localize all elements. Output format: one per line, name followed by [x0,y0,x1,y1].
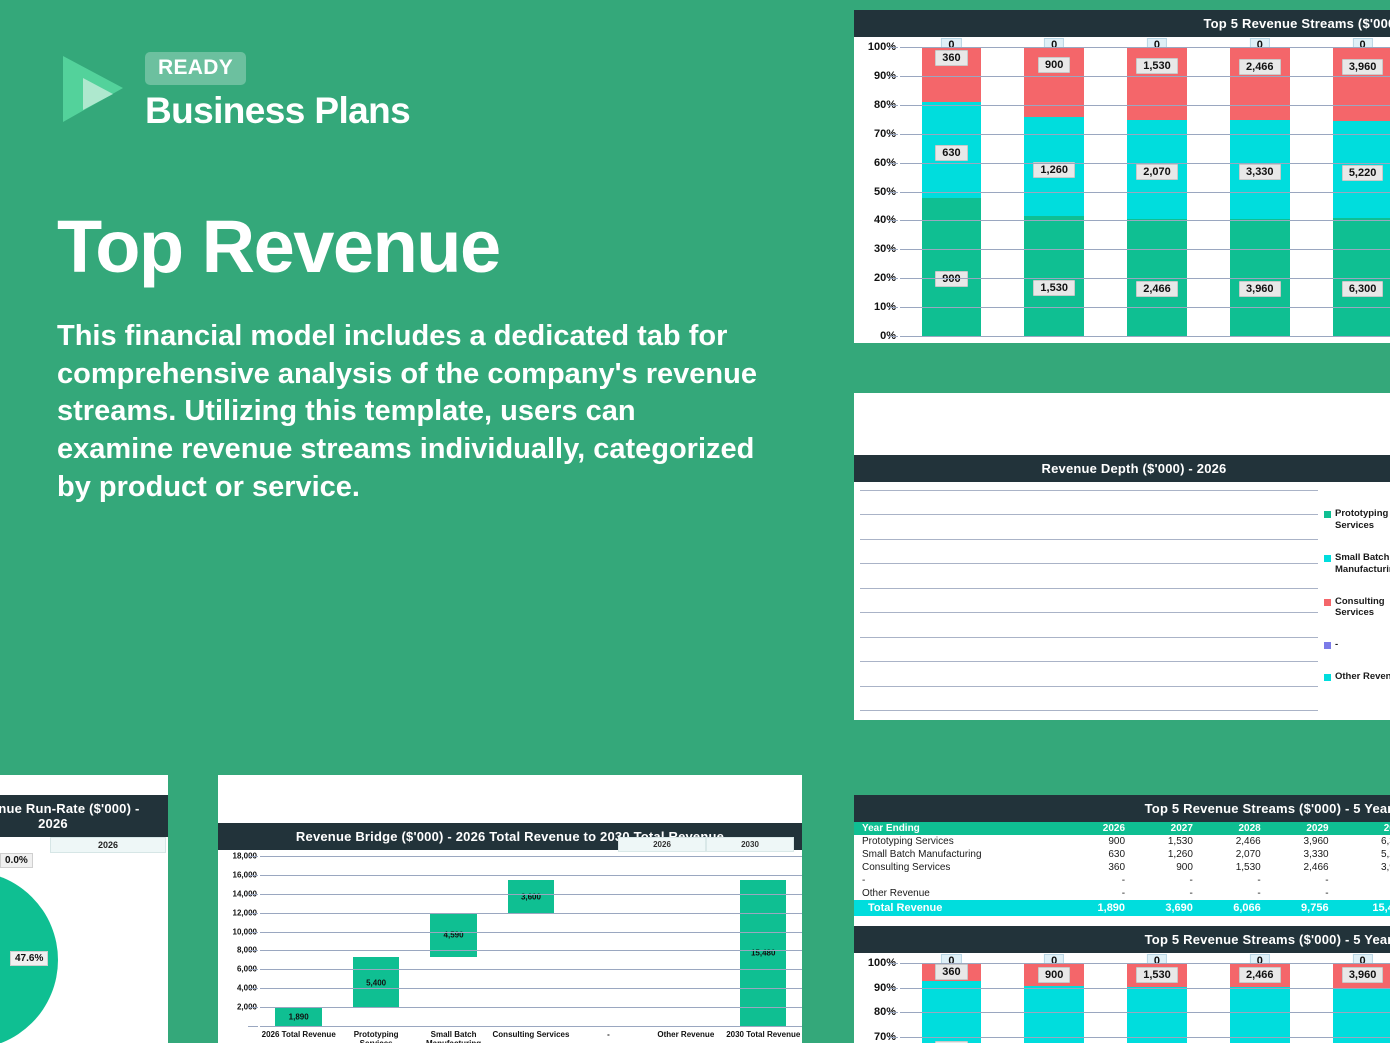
top5-revenue-table: Year Ending20262027202820292030 Prototyp… [854,822,1390,916]
gridline [900,134,1390,135]
table-cell: 5,220 [1337,848,1390,861]
plot-area-revenue-depth: 90063036000 [860,490,1318,720]
table-header-row: Year Ending20262027202820292030 [854,822,1390,835]
bridge-slot-1: 5,400 [337,856,414,1026]
table-cell: 3,960 [1269,835,1337,848]
chart-title-run-rate: Revenue Run-Rate ($'000) - 2026 [0,795,168,837]
gridline [860,539,1318,540]
segment-consulting-services: 1,530 [1127,47,1187,120]
axis-tick [888,192,898,193]
gridline [860,588,1318,589]
segment-value: 2,466 [1136,281,1178,297]
y-axis-top5-bottom: 100%90%80%70% [854,963,900,1043]
segment-small-batch-manufacturing: 5,220 [1333,121,1390,218]
legend-item: Prototyping Services [1324,508,1390,532]
axis-tick [248,856,258,857]
gridline [900,163,1390,164]
table-cell: 3,330 [1269,848,1337,861]
table-header-cell: Year Ending [854,822,1065,835]
gridline [260,1007,802,1008]
table-cell: - [1133,887,1201,900]
table-total-row: Total Revenue1,8903,6906,0669,75615,480 [854,900,1390,916]
gridline [900,192,1390,193]
axis-tick [248,969,258,970]
bridge-bar-value: 5,400 [366,978,386,987]
table-cell: - [1065,887,1133,900]
bridge-slot-2: 4,590 [415,856,492,1026]
bridge-x-label: Other Revenue [647,1026,724,1043]
axis-tick [888,220,898,221]
table-row: ------ [854,874,1390,887]
bridge-x-label: 2026 Total Revenue [260,1026,337,1043]
table-header-cell: 2030 [1337,822,1390,835]
gridline [860,563,1318,564]
gridline [860,612,1318,613]
segment-consulting-services: 900 [1024,47,1084,117]
page-title: Top Revenue [57,210,817,284]
brand-name: Business Plans [145,90,410,132]
chart-title-top5-bottom: Top 5 Revenue Streams ($'000) - 5 Years [854,926,1390,953]
table-cell: 900 [1065,835,1133,848]
segment-value: 630 [935,145,967,161]
axis-tick [888,163,898,164]
segment-consulting-services: 2,466 [1230,963,1290,987]
axis-tick [248,875,258,876]
card-top5-table-and-chart: Top 5 Revenue Streams ($'000) - 5 Years … [854,795,1390,1043]
bridge-slot-5 [647,856,724,1026]
chart-title-top5: Top 5 Revenue Streams ($'000) [854,10,1390,37]
segment-value: 1,530 [1136,58,1178,74]
bridge-slot-0: 1,890 [260,856,337,1026]
table-cell: 3,960 [1337,861,1390,874]
chart-card-revenue-depth: Revenue Depth ($'000) - 2026 90063036000… [854,393,1390,720]
table-cell: 1,530 [1133,835,1201,848]
axis-tick [888,988,898,989]
plot-area-revenue-bridge: 1,8905,4004,5903,60015,480 [260,856,802,1026]
axis-tick [888,1012,898,1013]
y-axis-revenue-bridge: 18,00016,00014,00012,00010,0008,0006,000… [218,856,260,1026]
gridline [900,307,1390,308]
axis-tick [248,950,258,951]
segment-consulting-services: 360 [922,963,982,981]
bridge-slot-6: 15,480 [725,856,802,1026]
table-header-cell: 2026 [1065,822,1133,835]
plot-area-top5-bottom: 0360630090001,53002,46603,960 [900,963,1390,1043]
table-cell: 2,466 [1201,835,1269,848]
table-row-label: Consulting Services [854,861,1065,874]
table-total-cell: 15,480 [1337,900,1390,916]
table-cell: - [1269,887,1337,900]
segment-value: 3,960 [1239,281,1281,297]
table-cell: - [1201,874,1269,887]
table-cell: - [1133,874,1201,887]
table-row: Other Revenue----- [854,887,1390,900]
segment-value: 2,466 [1239,967,1281,983]
bridge-x-label: Small Batch Manufacturing [415,1026,492,1043]
segment-value: 3,330 [1239,164,1281,180]
bridge-slot-4 [570,856,647,1026]
gridline [860,637,1318,638]
gridline [900,220,1390,221]
table-total-cell: 1,890 [1065,900,1133,916]
table-cell: 360 [1065,861,1133,874]
legend-swatch [1324,511,1331,518]
table-cell: - [1269,874,1337,887]
segment-small-batch-manufacturing [1230,987,1290,1043]
segment-consulting-services: 3,960 [1333,47,1390,121]
stacked-bar-2029: 02,466 [1208,963,1311,1043]
bridge-bar: 3,600 [508,880,554,914]
table-cell: - [1337,887,1390,900]
stacked-bar-2027: 0900 [1003,963,1106,1043]
table-cell: - [1337,874,1390,887]
legend-label: Consulting Services [1335,596,1390,620]
legend-item: Other Revenue [1324,671,1390,683]
chart-title-revenue-depth: Revenue Depth ($'000) - 2026 [854,455,1390,482]
legend-revenue-bridge: 20262030 [618,837,794,852]
pie-year-legend: 2026 [50,837,166,853]
axis-tick [888,105,898,106]
legend-swatch [1324,555,1331,562]
plot-area-top5: 036063090009001,2601,53001,5302,0702,466… [900,47,1390,336]
gridline [900,336,1390,337]
gridline [260,932,802,933]
gridline [900,1037,1390,1038]
axis-tick [888,278,898,279]
segment-value: 5,220 [1342,165,1384,181]
table-row-label: - [854,874,1065,887]
gridline [260,856,802,857]
gridline [260,875,802,876]
table-cell: 6,300 [1337,835,1390,848]
stacked-bar-2030: 03,960 [1311,963,1390,1043]
legend-label: - [1335,639,1338,651]
table-total-cell: 3,690 [1133,900,1201,916]
table-row-label: Other Revenue [854,887,1065,900]
bridge-legend-cell: 2026 [618,837,706,852]
axis-tick [888,249,898,250]
table-total-cell: 6,066 [1201,900,1269,916]
table-row-label: Small Batch Manufacturing [854,848,1065,861]
stacked-bar-2026: 0360630 [900,963,1003,1043]
table-cell: 900 [1133,861,1201,874]
gridline [860,686,1318,687]
gridline [900,963,1390,964]
bridge-bar-value: 1,890 [289,1013,309,1022]
chart-card-top5-stacked: Top 5 Revenue Streams ($'000) 100%90%80%… [854,10,1390,343]
segment-value: 2,070 [1136,164,1178,180]
gridline [900,278,1390,279]
table-header-cell: 2028 [1201,822,1269,835]
legend-item: Small Batch Manufacturing [1324,552,1390,576]
gridline [260,969,802,970]
table-cell: 1,530 [1201,861,1269,874]
axis-tick [888,1037,898,1038]
segment-small-batch-manufacturing [1333,988,1390,1043]
gridline [900,988,1390,989]
axis-tick [248,988,258,989]
axis-tick [248,1026,258,1027]
chart-card-revenue-bridge: Revenue Bridge ($'000) - 2026 Total Reve… [218,775,802,1043]
segment-value: 900 [1038,967,1070,983]
gridline [260,1026,802,1027]
table-cell: 1,260 [1133,848,1201,861]
bridge-slot-3: 3,600 [492,856,569,1026]
brand-logo: READY Business Plans [57,52,817,132]
table-cell: - [1065,874,1133,887]
segment-small-batch-manufacturing: 630 [922,102,982,198]
segment-value: 3,960 [1342,59,1384,75]
hero-description: This financial model includes a dedicate… [57,318,757,506]
segment-prototyping-services: 6,300 [1333,218,1390,336]
segment-small-batch-manufacturing: 3,330 [1230,120,1290,219]
gridline [900,76,1390,77]
segment-consulting-services: 2,466 [1230,47,1290,120]
segment-prototyping-services: 1,530 [1024,216,1084,336]
legend-swatch [1324,599,1331,606]
pie-label-1: 47.6% [10,951,48,966]
table-total-cell: 9,756 [1269,900,1337,916]
segment-small-batch-manufacturing [1024,986,1084,1043]
chart-card-revenue-run-rate: Revenue Run-Rate ($'000) - 2026 2026 0.0… [0,775,168,1043]
table-row: Consulting Services3609001,5302,4663,960 [854,861,1390,874]
segment-value: 3,960 [1342,967,1384,983]
legend-label: Other Revenue [1335,671,1390,683]
segment-value: 1,530 [1136,967,1178,983]
hero-section: READY Business Plans Top Revenue This fi… [57,52,817,506]
bridge-x-label: - [570,1026,647,1043]
bridge-bar: 15,480 [740,880,786,1026]
legend-label: Prototyping Services [1335,508,1390,532]
ready-badge: READY [145,52,246,85]
table-row-label: Prototyping Services [854,835,1065,848]
segment-consulting-services: 3,960 [1333,963,1390,988]
gridline [900,47,1390,48]
bridge-bar: 5,400 [353,957,399,1008]
gridline [900,105,1390,106]
segment-value: 1,260 [1033,162,1075,178]
bridge-legend-cell: 2030 [706,837,794,852]
segment-value: 6,300 [1342,281,1384,297]
bridge-bar: 1,890 [275,1008,321,1026]
bridge-x-label: Consulting Services [492,1026,569,1043]
stacked-bar-2028: 01,530 [1106,963,1209,1043]
table-total-label: Total Revenue [854,900,1065,916]
table-title-top5: Top 5 Revenue Streams ($'000) - 5 Years [854,795,1390,822]
segment-value: 900 [1038,57,1070,73]
axis-tick [888,336,898,337]
table-header-cell: 2029 [1269,822,1337,835]
gridline [860,514,1318,515]
axis-tick [248,1007,258,1008]
legend-label: Small Batch Manufacturing [1335,552,1390,576]
gridline [260,913,802,914]
gridline [900,1012,1390,1013]
segment-prototyping-services: 900 [922,198,982,336]
bridge-x-label: Prototyping Services [337,1026,414,1043]
legend-swatch [1324,642,1331,649]
bridge-x-label: 2030 Total Revenue [725,1026,802,1043]
table-row: Prototyping Services9001,5302,4663,9606,… [854,835,1390,848]
axis-tick [888,963,898,964]
segment-value: 900 [935,271,967,287]
segment-value: 1,530 [1033,280,1075,296]
segment-consulting-services: 900 [1024,963,1084,986]
axis-tick [248,932,258,933]
gridline [260,894,802,895]
pie-label-5: 0.0% [0,853,33,868]
legend-swatch [1324,674,1331,681]
axis-tick [248,894,258,895]
axis-tick [248,913,258,914]
table-cell: 630 [1065,848,1133,861]
x-axis-revenue-bridge: 2026 Total RevenuePrototyping ServicesSm… [260,1026,802,1043]
gridline [860,490,1318,491]
table-cell: - [1201,887,1269,900]
play-triangle-icon [57,52,129,128]
gridline [260,988,802,989]
segment-value: 360 [935,964,967,980]
segment-consulting-services: 360 [922,47,982,102]
table-header-cell: 2027 [1133,822,1201,835]
table-cell: 2,070 [1201,848,1269,861]
legend-revenue-depth: Prototyping ServicesSmall Batch Manufact… [1318,482,1390,720]
segment-consulting-services: 1,530 [1127,963,1187,987]
gridline [860,661,1318,662]
legend-item: - [1324,639,1390,651]
segment-small-batch-manufacturing [1127,987,1187,1043]
axis-tick [888,307,898,308]
segment-value: 2,466 [1239,59,1281,75]
axis-tick [888,76,898,77]
segment-value: 360 [935,50,967,66]
table-cell: 2,466 [1269,861,1337,874]
gridline [900,249,1390,250]
gridline [860,710,1318,711]
axis-tick [888,47,898,48]
segment-small-batch-manufacturing: 1,260 [1024,117,1084,216]
gridline [260,950,802,951]
axis-tick [888,134,898,135]
table-row: Small Batch Manufacturing6301,2602,0703,… [854,848,1390,861]
legend-item: Consulting Services [1324,596,1390,620]
